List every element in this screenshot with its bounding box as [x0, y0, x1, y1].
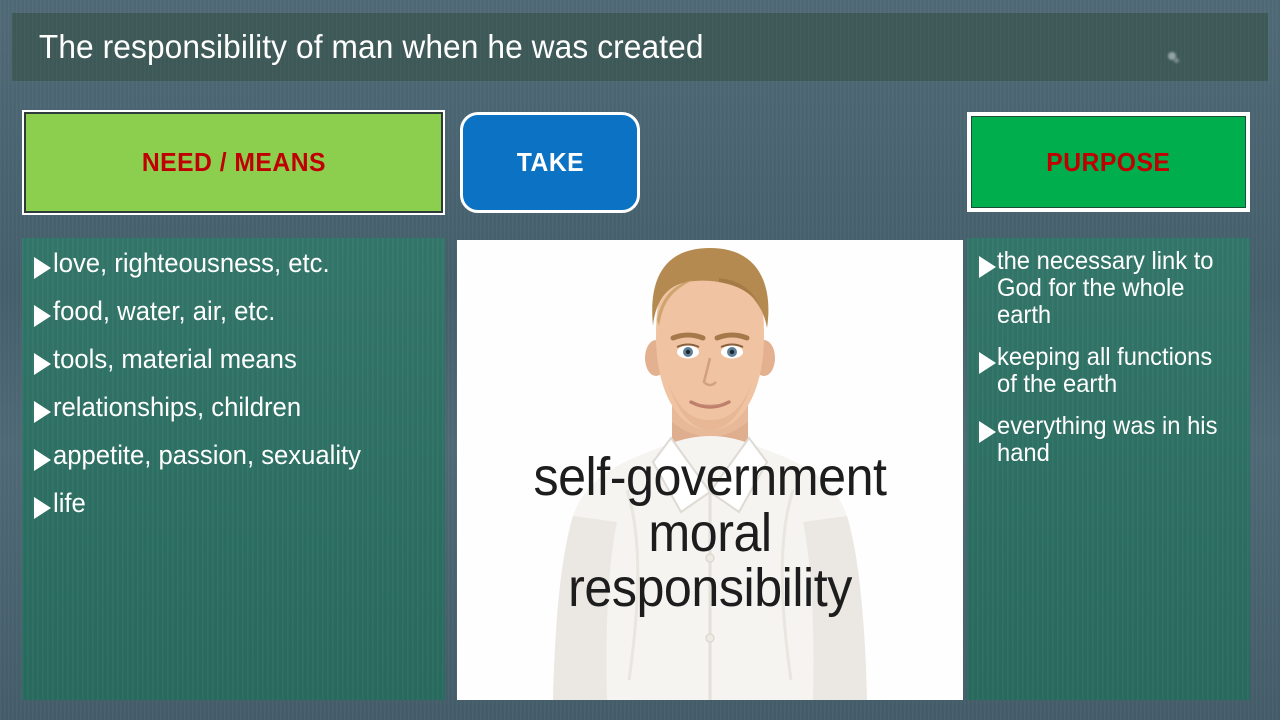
triangle-right-icon [34, 305, 51, 327]
list-item-label: everything was in his hand [997, 413, 1227, 467]
triangle-right-icon [979, 256, 996, 278]
list-item-label: the necessary link to God for the whole … [997, 248, 1227, 329]
list-item-label: life [53, 490, 86, 517]
portrait-illustration [457, 240, 963, 700]
purpose-panel: the necessary link to God for the whole … [967, 238, 1250, 700]
list-item-label: appetite, passion, sexuality [53, 442, 361, 469]
triangle-right-icon [979, 421, 996, 443]
list-item-label: food, water, air, etc. [53, 298, 275, 325]
purpose-list: the necessary link to God for the whole … [967, 238, 1250, 467]
need-means-label: NEED / MEANS [141, 147, 325, 178]
need-means-panel: love, righteousness, etc. food, water, a… [22, 238, 445, 700]
need-means-list: love, righteousness, etc. food, water, a… [22, 238, 445, 519]
take-label: TAKE [516, 147, 583, 178]
list-item: relationships, children [34, 394, 437, 423]
list-item: food, water, air, etc. [34, 298, 437, 327]
triangle-right-icon [34, 449, 51, 471]
need-means-header-box[interactable]: NEED / MEANS [22, 110, 445, 215]
list-item: appetite, passion, sexuality [34, 442, 437, 471]
title-band: The responsibility of man when he was cr… [12, 13, 1268, 81]
list-item: life [34, 490, 437, 519]
list-item: the necessary link to God for the whole … [979, 248, 1244, 329]
purpose-header-box[interactable]: PURPOSE [967, 112, 1250, 212]
list-item: tools, material means [34, 346, 437, 375]
background-speck [1174, 58, 1179, 63]
portrait-photo [457, 240, 963, 700]
list-item: keeping all functions of the earth [979, 344, 1244, 398]
triangle-right-icon [34, 353, 51, 375]
triangle-right-icon [34, 497, 51, 519]
list-item: everything was in his hand [979, 413, 1244, 467]
list-item-label: tools, material means [53, 346, 297, 373]
list-item-label: relationships, children [53, 394, 301, 421]
purpose-label: PURPOSE [1046, 147, 1170, 178]
take-button[interactable]: TAKE [460, 112, 640, 213]
triangle-right-icon [979, 352, 996, 374]
list-item-label: keeping all functions of the earth [997, 344, 1227, 398]
list-item: love, righteousness, etc. [34, 250, 437, 279]
triangle-right-icon [34, 257, 51, 279]
list-item-label: love, righteousness, etc. [53, 250, 330, 277]
page-title: The responsibility of man when he was cr… [12, 28, 704, 66]
center-photo-card: self-government moral responsibility [457, 240, 963, 700]
triangle-right-icon [34, 401, 51, 423]
